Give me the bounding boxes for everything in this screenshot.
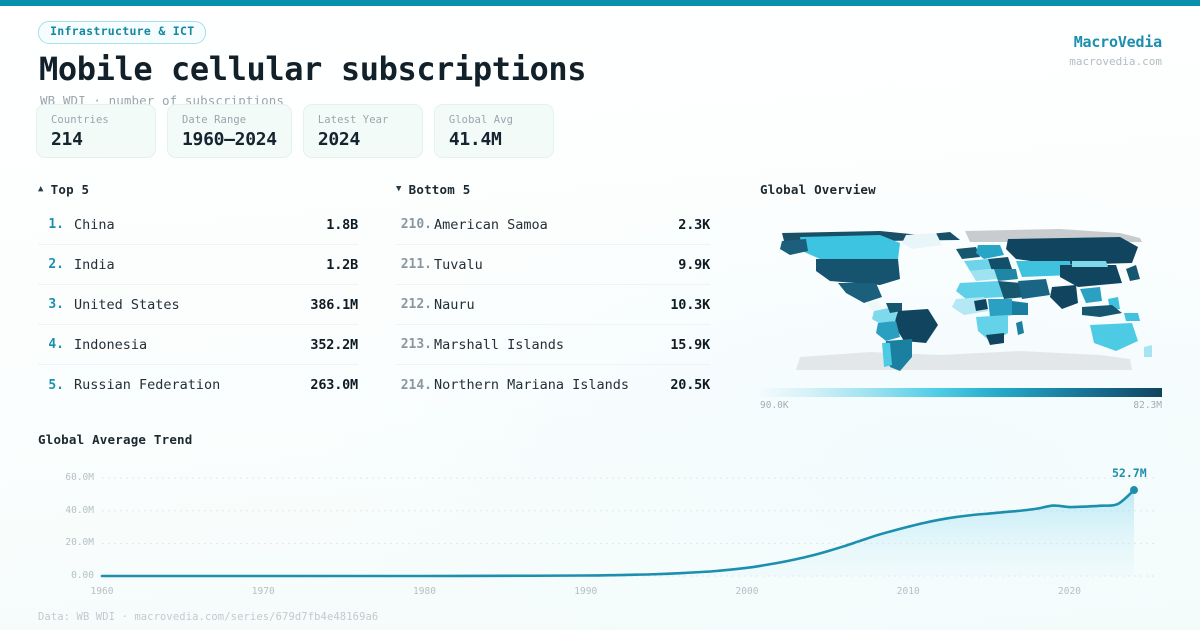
region-iberia-italy bbox=[970, 269, 998, 281]
bottom-section-title: ▼ Bottom 5 bbox=[396, 182, 710, 197]
rank-number: 212. bbox=[396, 297, 432, 312]
trend-section: Global Average Trend 0.0020.0M40.0M60.0M… bbox=[38, 432, 1162, 586]
table-row: 4. Indonesia 352.2M bbox=[38, 325, 358, 365]
metric-value: 352.2M bbox=[284, 337, 358, 353]
trend-section-label: Global Average Trend bbox=[38, 432, 193, 447]
metric-value: 20.5K bbox=[648, 377, 710, 393]
region-japan bbox=[1126, 265, 1140, 281]
y-axis-tick-label: 40.0M bbox=[38, 505, 94, 516]
y-axis-tick-label: 60.0M bbox=[38, 472, 94, 483]
metric-value: 263.0M bbox=[284, 377, 358, 393]
country-name: Indonesia bbox=[74, 337, 284, 353]
region-india bbox=[1050, 285, 1078, 309]
region-germany-poland bbox=[988, 257, 1012, 271]
legend-labels: 90.0K 82.3M bbox=[760, 400, 1162, 411]
metric-value: 10.3K bbox=[648, 297, 710, 313]
region-madagascar bbox=[1016, 321, 1024, 335]
stat-value: 214 bbox=[51, 129, 141, 150]
rank-number: 211. bbox=[396, 257, 432, 272]
region-central-africa bbox=[988, 299, 1014, 317]
stat-label: Latest Year bbox=[318, 114, 408, 126]
rank-number: 213. bbox=[396, 337, 432, 352]
stat-value: 41.4M bbox=[449, 129, 539, 150]
rank-number: 2. bbox=[38, 257, 64, 272]
map-section-label: Global Overview bbox=[760, 182, 876, 197]
x-axis-tick-label: 2000 bbox=[736, 586, 759, 597]
region-australia bbox=[1090, 323, 1138, 351]
region-russia bbox=[1006, 237, 1138, 265]
global-overview-section: Global Overview bbox=[760, 182, 1162, 411]
table-row: 3. United States 386.1M bbox=[38, 285, 358, 325]
chart-end-point bbox=[1130, 486, 1138, 494]
region-papua-new-guinea bbox=[1124, 313, 1140, 321]
region-new-zealand bbox=[1144, 345, 1152, 357]
region-mongolia bbox=[1072, 261, 1108, 267]
infographic-page: Infrastructure & ICT Mobile cellular sub… bbox=[0, 0, 1200, 630]
country-name: United States bbox=[74, 297, 284, 313]
country-name: Northern Mariana Islands bbox=[434, 377, 648, 393]
region-mexico bbox=[838, 283, 882, 303]
metric-value: 1.8B bbox=[284, 217, 358, 233]
region-east-africa bbox=[1012, 301, 1028, 315]
chart-area-fill bbox=[102, 490, 1134, 576]
region-united-states bbox=[816, 259, 900, 285]
region-canada bbox=[800, 235, 900, 259]
top-section-title: ▲ Top 5 bbox=[38, 182, 358, 197]
region-france bbox=[964, 259, 992, 271]
metric-value: 2.3K bbox=[648, 217, 710, 233]
metric-value: 386.1M bbox=[284, 297, 358, 313]
table-row: 213. Marshall Islands 15.9K bbox=[396, 325, 710, 365]
stat-card-date-range: Date Range 1960–2024 bbox=[167, 104, 292, 158]
x-axis-tick-label: 1990 bbox=[574, 586, 597, 597]
region-balkans bbox=[994, 269, 1018, 281]
metric-value: 1.2B bbox=[284, 257, 358, 273]
stat-label: Date Range bbox=[182, 114, 277, 126]
table-row: 5. Russian Federation 263.0M bbox=[38, 365, 358, 405]
x-axis-tick-label: 1960 bbox=[91, 586, 114, 597]
bottom-ranking-section: ▼ Bottom 5 210. American Samoa 2.3K 211.… bbox=[396, 182, 710, 405]
y-axis-tick-label: 0.00 bbox=[38, 570, 94, 581]
brand: MacroVedia macrovedia.com bbox=[1069, 33, 1162, 68]
rank-number: 5. bbox=[38, 378, 64, 393]
country-name: China bbox=[74, 217, 284, 233]
rank-number: 214. bbox=[396, 378, 432, 393]
chart-end-label: 52.7M bbox=[1112, 466, 1147, 480]
table-row: 214. Northern Mariana Islands 20.5K bbox=[396, 365, 710, 405]
stat-card-countries: Countries 214 bbox=[36, 104, 156, 158]
rank-number: 3. bbox=[38, 297, 64, 312]
country-name: Marshall Islands bbox=[434, 337, 648, 353]
trend-chart: 0.0020.0M40.0M60.0M 19601970198019902000… bbox=[38, 456, 1162, 586]
rank-number: 4. bbox=[38, 337, 64, 352]
region-china bbox=[1060, 265, 1122, 287]
map-legend: 90.0K 82.3M bbox=[760, 388, 1162, 411]
stat-card-row: Countries 214 Date Range 1960–2024 Lates… bbox=[36, 104, 554, 158]
region-scandinavia bbox=[976, 245, 1004, 259]
region-southeast-asia bbox=[1080, 287, 1102, 303]
region-peru bbox=[876, 321, 900, 341]
world-choropleth-map bbox=[760, 207, 1162, 382]
country-name: Russian Federation bbox=[74, 377, 284, 393]
metric-value: 9.9K bbox=[648, 257, 710, 273]
region-middle-east bbox=[1018, 279, 1050, 299]
top-ranking-list: 1. China 1.8B 2. India 1.2B 3. United St… bbox=[38, 205, 358, 405]
country-name: American Samoa bbox=[434, 217, 648, 233]
triangle-down-icon: ▼ bbox=[396, 185, 402, 194]
top-accent-bar bbox=[0, 0, 1200, 6]
header: Infrastructure & ICT Mobile cellular sub… bbox=[38, 20, 1162, 108]
rank-number: 1. bbox=[38, 217, 64, 232]
metric-value: 15.9K bbox=[648, 337, 710, 353]
table-row: 1. China 1.8B bbox=[38, 205, 358, 245]
region-north-africa bbox=[956, 281, 1004, 299]
legend-gradient-bar bbox=[760, 388, 1162, 397]
page-title: Mobile cellular subscriptions bbox=[39, 53, 1162, 87]
country-name: Tuvalu bbox=[434, 257, 648, 273]
table-row: 212. Nauru 10.3K bbox=[396, 285, 710, 325]
trend-chart-svg bbox=[38, 456, 1162, 586]
top-section-label: Top 5 bbox=[51, 182, 90, 197]
stat-label: Countries bbox=[51, 114, 141, 126]
map-svg bbox=[760, 207, 1162, 382]
trend-section-title: Global Average Trend bbox=[38, 432, 1162, 447]
stat-label: Global Avg bbox=[449, 114, 539, 126]
map-section-title: Global Overview bbox=[760, 182, 1162, 197]
region-central-america bbox=[866, 301, 882, 311]
footer-source: Data: WB WDI · macrovedia.com/series/679… bbox=[38, 611, 378, 623]
region-south-africa bbox=[986, 333, 1004, 345]
x-axis-tick-label: 1970 bbox=[252, 586, 275, 597]
x-axis-tick-label: 2010 bbox=[897, 586, 920, 597]
x-axis-tick-label: 2020 bbox=[1058, 586, 1081, 597]
region-greenland bbox=[902, 233, 942, 249]
region-brazil bbox=[894, 309, 938, 343]
y-axis-tick-label: 20.0M bbox=[38, 537, 94, 548]
stat-value: 1960–2024 bbox=[182, 129, 277, 150]
category-badge: Infrastructure & ICT bbox=[38, 21, 206, 44]
country-name: India bbox=[74, 257, 284, 273]
region-alaska bbox=[780, 239, 808, 255]
stat-card-latest-year: Latest Year 2024 bbox=[303, 104, 423, 158]
bottom-ranking-list: 210. American Samoa 2.3K 211. Tuvalu 9.9… bbox=[396, 205, 710, 405]
stat-card-global-avg: Global Avg 41.4M bbox=[434, 104, 554, 158]
table-row: 210. American Samoa 2.3K bbox=[396, 205, 710, 245]
region-nigeria bbox=[974, 299, 988, 311]
brand-name: MacroVedia bbox=[1069, 33, 1162, 51]
brand-url: macrovedia.com bbox=[1069, 55, 1162, 68]
table-row: 211. Tuvalu 9.9K bbox=[396, 245, 710, 285]
top-ranking-section: ▲ Top 5 1. China 1.8B 2. India 1.2B 3. U… bbox=[38, 182, 358, 405]
legend-min-label: 90.0K bbox=[760, 400, 789, 411]
region-antarctica bbox=[796, 351, 1132, 370]
bottom-section-label: Bottom 5 bbox=[409, 182, 471, 197]
table-row: 2. India 1.2B bbox=[38, 245, 358, 285]
country-name: Nauru bbox=[434, 297, 648, 313]
rank-number: 210. bbox=[396, 217, 432, 232]
triangle-up-icon: ▲ bbox=[38, 185, 44, 194]
x-axis-tick-label: 1980 bbox=[413, 586, 436, 597]
legend-max-label: 82.3M bbox=[1133, 400, 1162, 411]
stat-value: 2024 bbox=[318, 129, 408, 150]
